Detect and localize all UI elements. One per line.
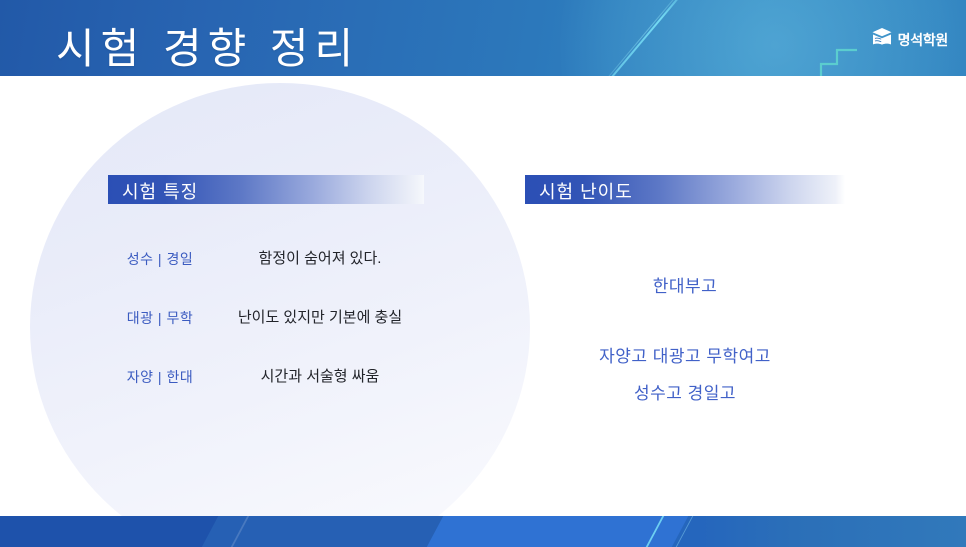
exam-feature-list: 성수 | 경일 함정이 숨어져 있다. 대광 | 무학 난이도 있지만 기본에 …: [108, 248, 428, 425]
page-title: 시험 경향 정리: [56, 15, 359, 76]
table-row: 성수 | 경일 함정이 숨어져 있다.: [108, 248, 428, 270]
footer-gradient-overlay: [700, 516, 966, 547]
feature-description: 함정이 숨어져 있다.: [212, 248, 428, 270]
brand-name-label: 명석학원: [898, 30, 948, 50]
presentation-slide: 시험 경향 정리 명석학원 시험 특징 시험 난이도: [0, 0, 966, 547]
section-bar-right: 시험 난이도: [525, 175, 845, 204]
school-pair-label: 자양 | 한대: [108, 366, 212, 387]
section-bar-left: 시험 특징: [108, 175, 424, 204]
brand-logo: 명석학원: [870, 26, 948, 53]
slide-body: 시험 특징 시험 난이도 성수 | 경일 함정이 숨어져 있다. 대광 | 무학…: [0, 76, 966, 516]
school-pair-label: 성수 | 경일: [108, 248, 212, 269]
list-item: 자양고 대광고 무학여고: [525, 342, 845, 367]
section-header-right: 시험 난이도: [525, 175, 845, 204]
header-staircase-decoration: [805, 40, 865, 76]
slide-footer: [0, 516, 966, 547]
feature-description: 난이도 있지만 기본에 충실: [212, 307, 428, 329]
slide-header: 시험 경향 정리 명석학원: [0, 0, 966, 76]
table-row: 자양 | 한대 시간과 서술형 싸움: [108, 366, 428, 388]
section-title-left: 시험 특징: [122, 178, 198, 204]
list-item: 성수고 경일고: [525, 379, 845, 404]
exam-difficulty-list: 한대부고 자양고 대광고 무학여고 성수고 경일고: [525, 272, 845, 404]
section-header-left: 시험 특징: [108, 175, 424, 204]
school-pair-label: 대광 | 무학: [108, 307, 212, 328]
feature-description: 시간과 서술형 싸움: [212, 366, 428, 388]
section-title-right: 시험 난이도: [539, 178, 633, 204]
table-row: 대광 | 무학 난이도 있지만 기본에 충실: [108, 307, 428, 329]
open-book-icon: [870, 26, 894, 53]
list-item: 한대부고: [525, 272, 845, 297]
